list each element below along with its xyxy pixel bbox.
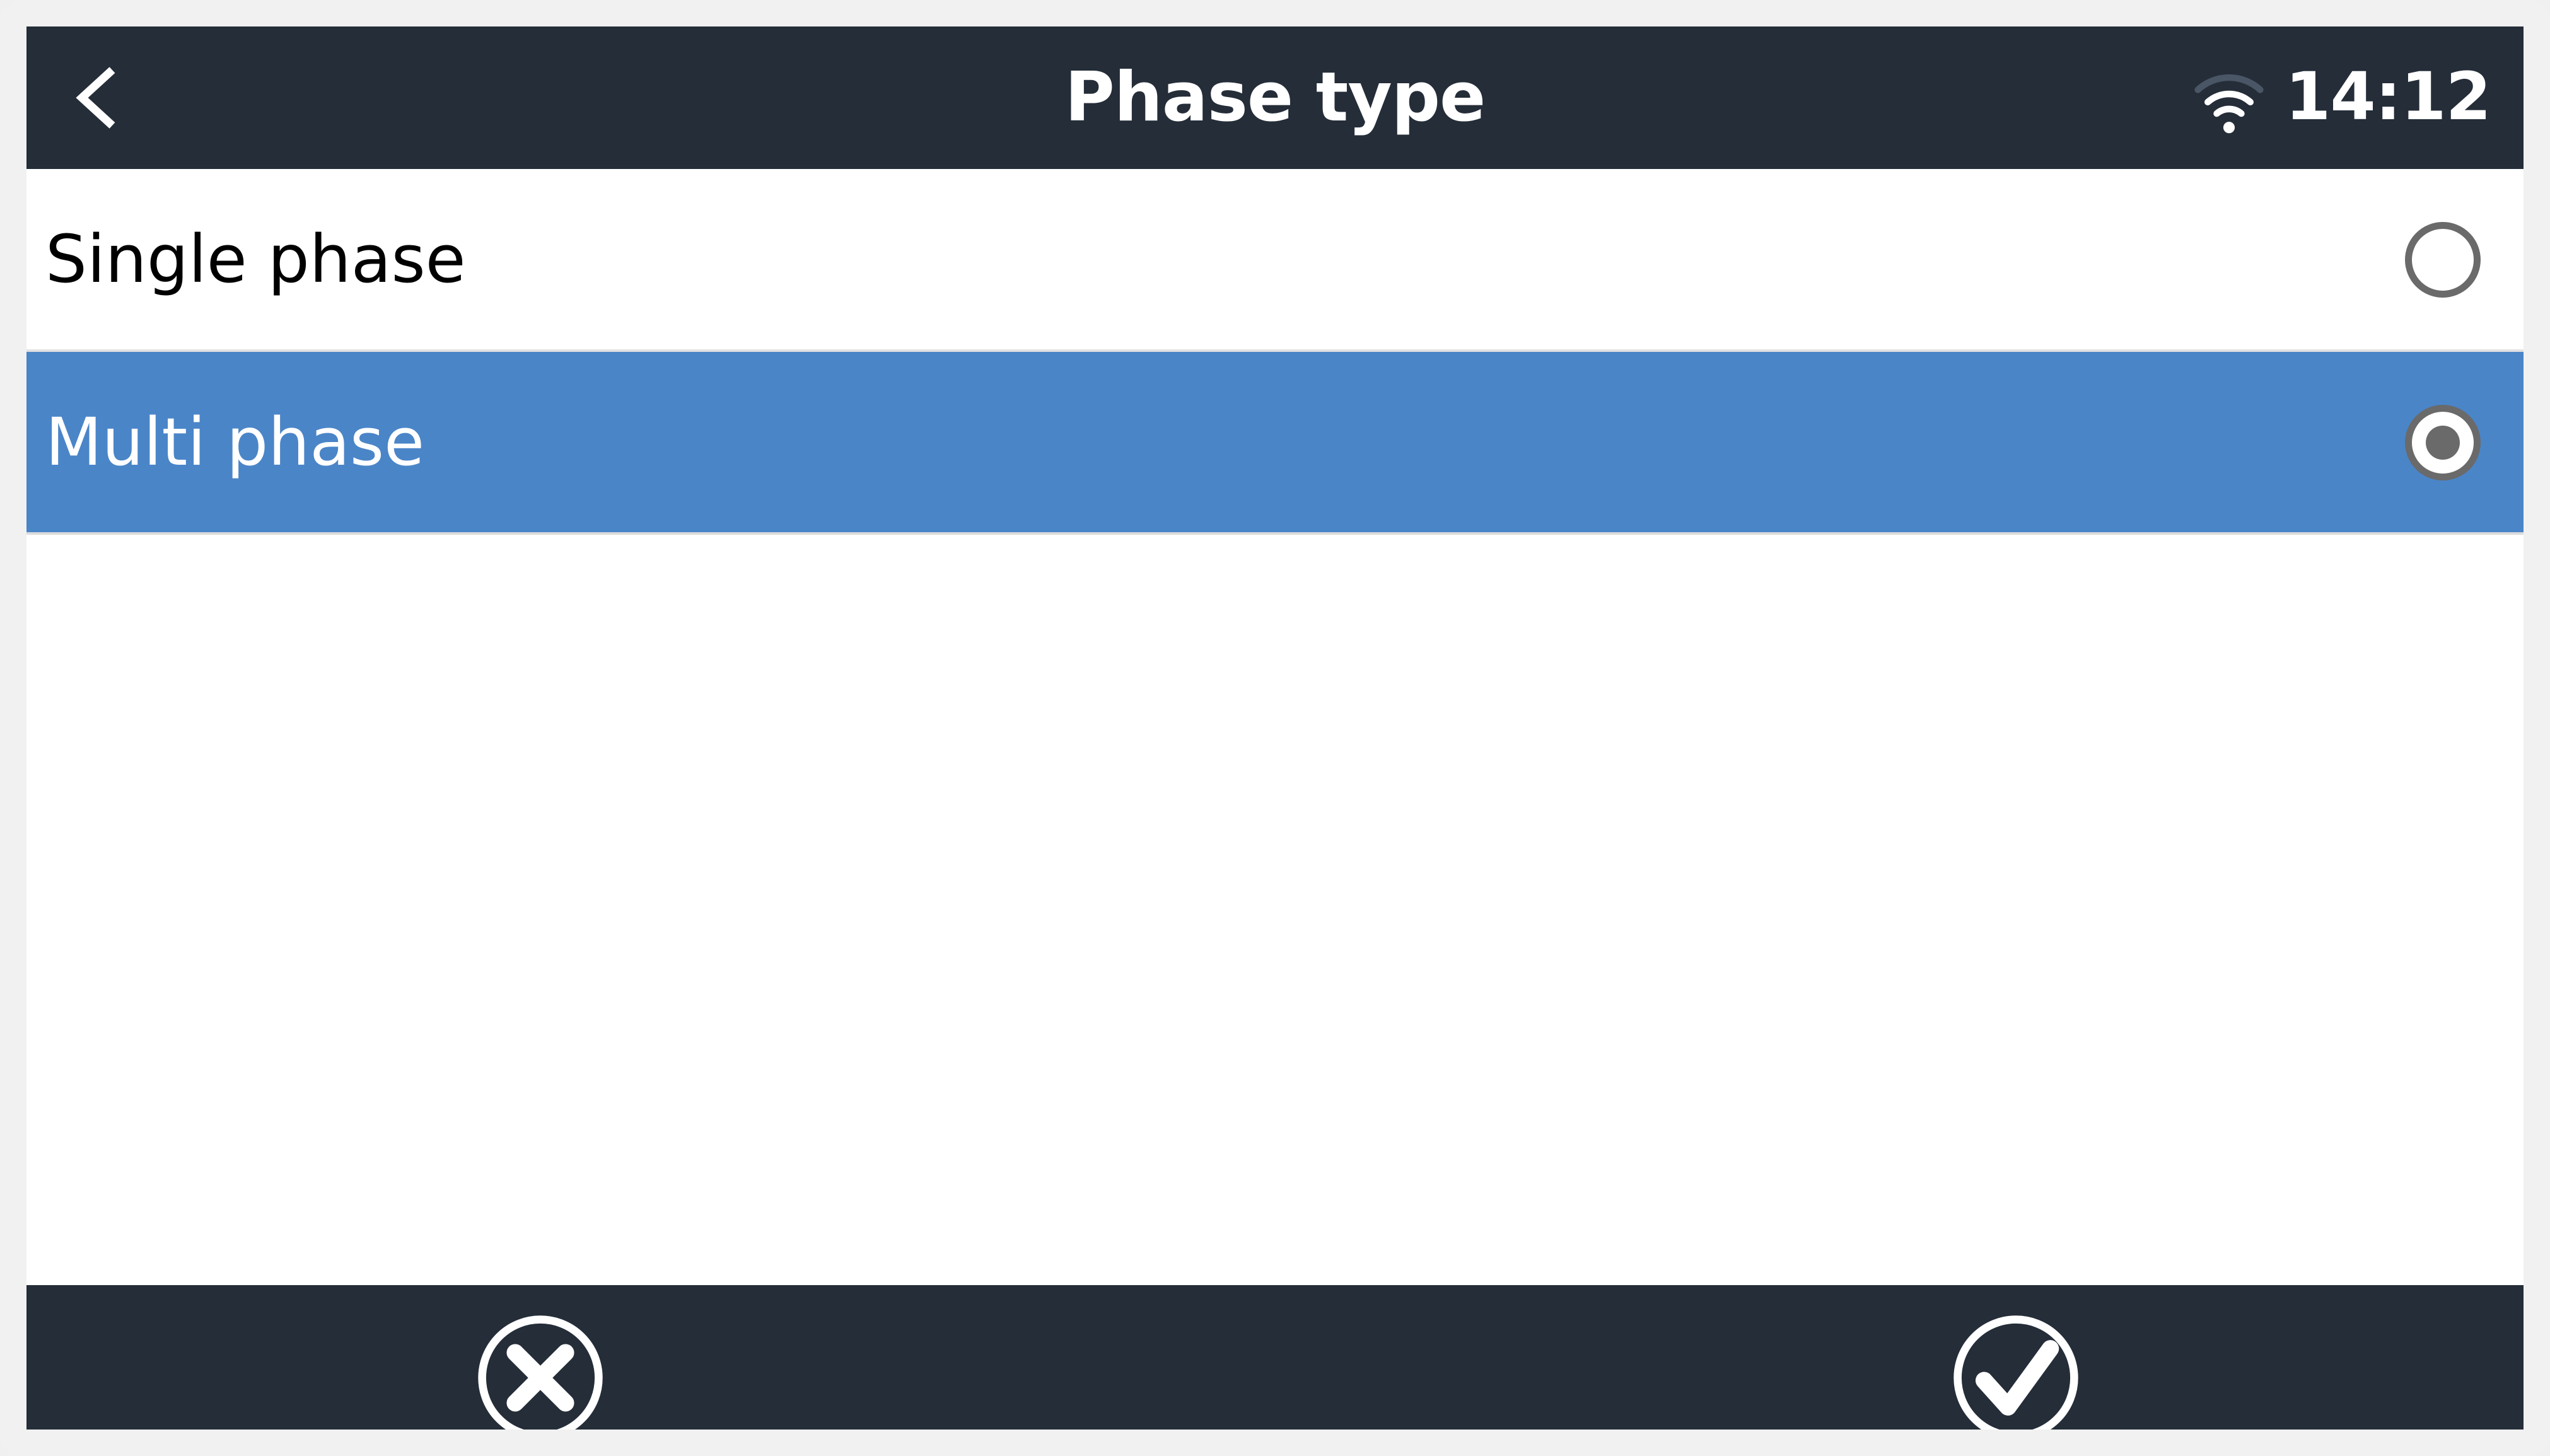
- radio-checked-icon[interactable]: [2405, 405, 2481, 480]
- confirm-button[interactable]: [1950, 1312, 2082, 1430]
- radio-unchecked-icon[interactable]: [2405, 222, 2481, 298]
- header-bar: Phase type 14:12: [26, 26, 2524, 169]
- list-item-label: Single phase: [45, 169, 466, 352]
- footer-bar: [26, 1285, 2524, 1430]
- list-item-multi-phase[interactable]: Multi phase: [26, 352, 2524, 535]
- list-item-single-phase[interactable]: Single phase: [26, 169, 2524, 352]
- cancel-button[interactable]: [474, 1312, 607, 1430]
- screen: Phase type 14:12 Single phase M: [26, 26, 2524, 1430]
- clock: 14:12: [2285, 64, 2491, 129]
- wifi-icon: [2188, 59, 2270, 141]
- status-cluster: 14:12: [2188, 26, 2491, 169]
- page-title: Phase type: [26, 26, 2524, 169]
- radio-dot: [2426, 426, 2460, 460]
- device-frame: Phase type 14:12 Single phase M: [0, 0, 2550, 1456]
- cancel-circle-icon: [474, 1312, 607, 1430]
- list-item-label: Multi phase: [45, 352, 424, 535]
- options-list: Single phase Multi phase: [26, 169, 2524, 1285]
- check-circle-icon: [1950, 1312, 2082, 1430]
